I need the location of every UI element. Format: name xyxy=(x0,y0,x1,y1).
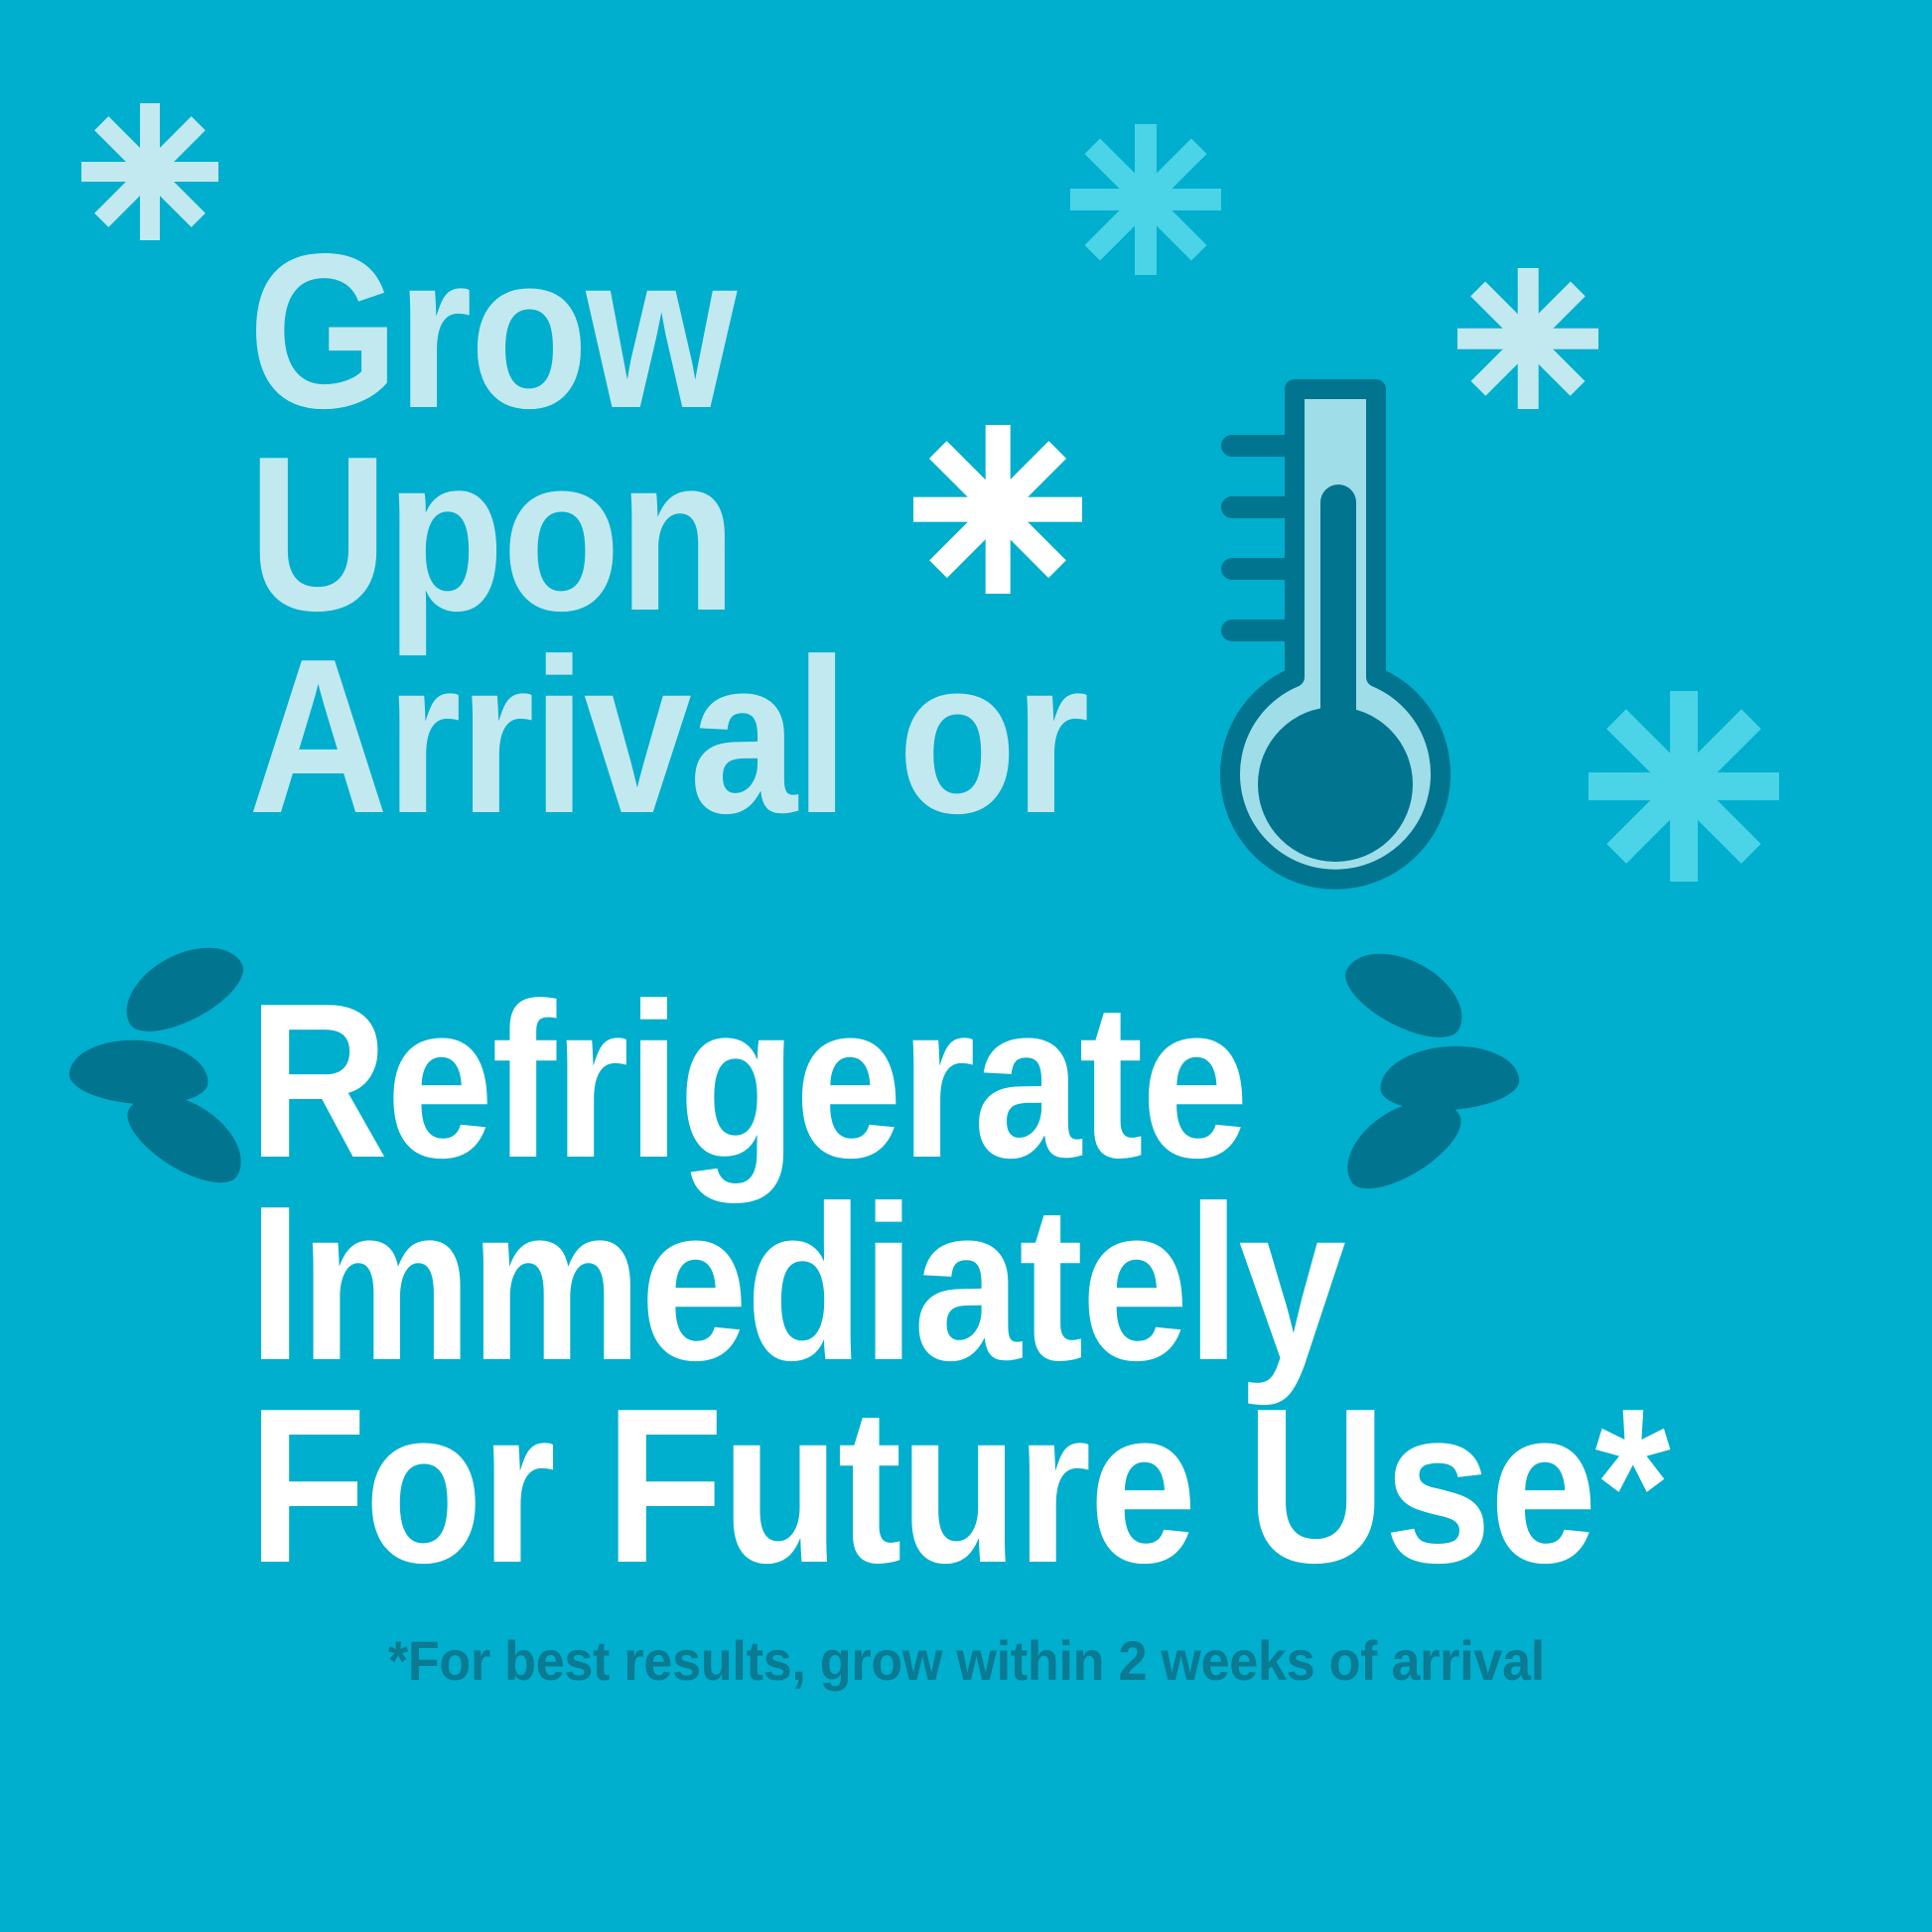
snowflake-top-right-icon xyxy=(1457,268,1598,409)
splash-left-icon xyxy=(77,955,246,1164)
headline-line-for-future-use: For Future Use* xyxy=(248,1385,1668,1587)
headline-line-immediately: Immediately xyxy=(248,1182,1668,1385)
headline-line-arrival-or: Arrival or xyxy=(248,635,1087,838)
footnote: *For best results, grow within 2 weeks o… xyxy=(0,1628,1932,1693)
poster-canvas: Grow Upon Arrival or Refrigerate Immedia… xyxy=(0,0,1932,1932)
thermometer-icon xyxy=(1203,379,1467,923)
headline-white-block: Refrigerate Immediately For Future Use* xyxy=(248,980,1862,1588)
headline-light-block: Grow Upon Arrival or xyxy=(248,230,1201,839)
footnote-text: *For best results, grow within 2 weeks o… xyxy=(387,1628,1544,1693)
headline-line-refrigerate: Refrigerate xyxy=(248,980,1668,1182)
snowflake-right-large-icon xyxy=(1588,691,1779,882)
headline-line-upon: Upon xyxy=(248,433,1087,635)
headline-line-grow: Grow xyxy=(248,230,1087,433)
snowflake-top-left-icon xyxy=(81,103,218,240)
